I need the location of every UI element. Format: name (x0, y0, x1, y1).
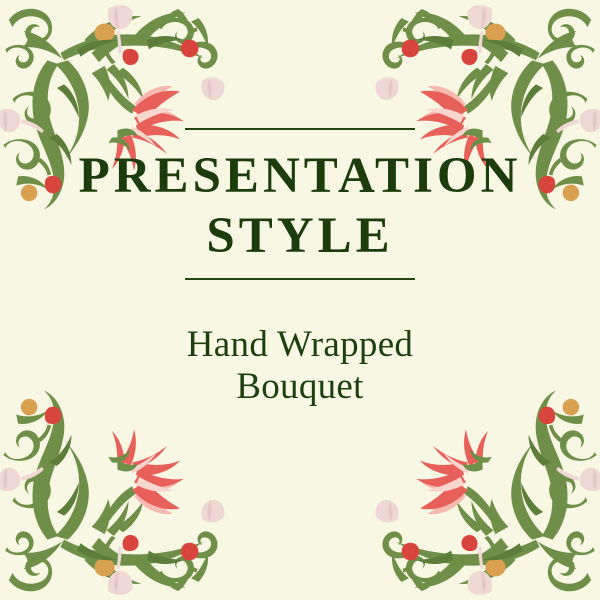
page-title: Presentation Style (0, 147, 600, 266)
presentation-style-card: Presentation Style Hand Wrapped Bouquet (0, 0, 600, 600)
divider-below-title (185, 278, 415, 280)
divider-above-title (185, 128, 415, 130)
page-subtitle: Hand Wrapped Bouquet (0, 324, 600, 408)
center-text-block: Presentation Style Hand Wrapped Bouquet (0, 128, 600, 409)
